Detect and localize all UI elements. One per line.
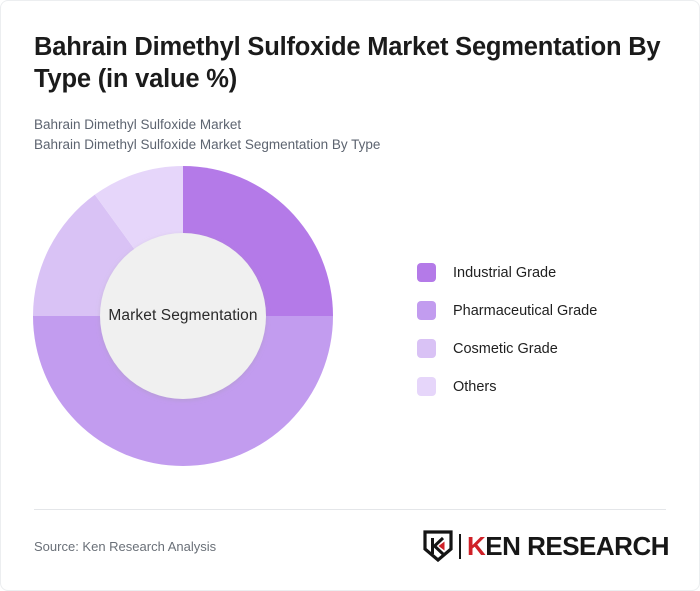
- donut-hole: [100, 233, 266, 399]
- legend-swatch-icon: [417, 339, 436, 358]
- footer-divider: [34, 509, 666, 510]
- chart-card: Bahrain Dimethyl Sulfoxide Market Segmen…: [0, 0, 700, 591]
- chart-footer: Source: Ken Research Analysis KEN RESEAR…: [34, 529, 669, 563]
- legend-item-label: Industrial Grade: [453, 265, 556, 281]
- chart-header: Bahrain Dimethyl Sulfoxide Market Segmen…: [1, 1, 699, 156]
- legend-swatch-icon: [417, 263, 436, 282]
- source-note: Source: Ken Research Analysis: [34, 539, 216, 554]
- legend-item[interactable]: Others: [417, 368, 597, 406]
- legend-item-label: Cosmetic Grade: [453, 341, 558, 357]
- legend-item[interactable]: Cosmetic Grade: [417, 330, 597, 368]
- legend-swatch-icon: [417, 301, 436, 320]
- legend-item[interactable]: Industrial Grade: [417, 254, 597, 292]
- legend-swatch-icon: [417, 377, 436, 396]
- subtitle-line-2: Bahrain Dimethyl Sulfoxide Market Segmen…: [34, 135, 663, 156]
- brand-wordmark-k: K: [467, 531, 485, 561]
- legend-item-label: Pharmaceutical Grade: [453, 303, 597, 319]
- subtitle-line-1: Bahrain Dimethyl Sulfoxide Market: [34, 115, 663, 136]
- legend-item-label: Others: [453, 379, 497, 395]
- brand-wordmark-rest: EN RESEARCH: [485, 531, 669, 561]
- legend-item[interactable]: Pharmaceutical Grade: [417, 292, 597, 330]
- subtitle-block: Bahrain Dimethyl Sulfoxide Market Bahrai…: [34, 115, 663, 156]
- brand-wordmark: KEN RESEARCH: [467, 533, 669, 559]
- donut-svg: [33, 166, 333, 466]
- page-title: Bahrain Dimethyl Sulfoxide Market Segmen…: [34, 31, 663, 96]
- chart-area: Market Segmentation Industrial GradePhar…: [1, 166, 699, 496]
- ken-research-logo: KEN RESEARCH: [423, 530, 669, 562]
- ken-shield-logo-icon: [423, 530, 453, 562]
- logo-separator-bar: [459, 534, 461, 559]
- chart-legend: Industrial GradePharmaceutical GradeCosm…: [417, 254, 597, 406]
- donut-chart: Market Segmentation: [33, 166, 333, 466]
